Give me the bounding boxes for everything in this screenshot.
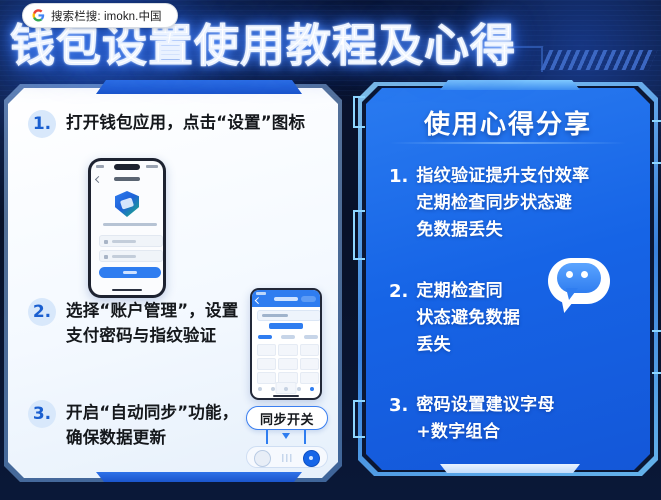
right-panel-top-cap (440, 80, 580, 90)
bracket-accent-3 (353, 400, 365, 438)
chat-bubble-icon (548, 258, 610, 312)
left-panel-top-cap (96, 80, 302, 94)
google-g-icon (32, 9, 45, 22)
step-text-3: 开启“自动同步”功能， 确保数据更新 (66, 400, 238, 450)
toggle-knob-on[interactable] (303, 450, 320, 467)
step-number-3: 3. (28, 400, 56, 428)
right-item-number-3: 3. (389, 392, 408, 419)
right-panel-bottom-cap (440, 464, 580, 473)
right-item-3: 3. 密码设置建议字母 +数字组合 (389, 392, 555, 446)
wallet-shield-logo (115, 191, 139, 217)
bracket-accent-4 (652, 120, 661, 164)
search-bar[interactable]: 搜索栏搜: imokn.中国 (22, 3, 178, 28)
bracket-accent-1 (353, 96, 365, 128)
step-text-1: 打开钱包应用，点击“设置”图标 (66, 110, 305, 135)
phone-tabs (257, 334, 319, 340)
right-item-text-3: 密码设置建议字母 +数字组合 (416, 392, 554, 446)
sync-switch-label-text: 同步开关 (260, 409, 314, 428)
right-item-1: 1. 指纹验证提升支付效率 定期检查同步状态避 免数据丢失 (389, 163, 589, 244)
right-item-number-2: 2. (389, 278, 408, 305)
toggle-knob-off[interactable] (254, 450, 271, 467)
left-step-2: 2. 选择“账户管理”，设置 支付密码与指纹验证 (28, 298, 238, 348)
phone-login-button (99, 267, 161, 278)
right-item-text-1: 指纹验证提升支付效率 定期检查同步状态避 免数据丢失 (416, 163, 589, 244)
step-text-2: 选择“账户管理”，设置 支付密码与指纹验证 (66, 298, 238, 348)
phone-notch (114, 164, 140, 170)
sync-toggle-widget: 同步开关 (246, 406, 342, 468)
bracket-accent-5 (652, 330, 661, 374)
right-panel-divider (390, 142, 626, 144)
sync-connector-lines (246, 430, 328, 446)
left-step-3: 3. 开启“自动同步”功能， 确保数据更新 (28, 400, 238, 450)
phone-bottom-nav (252, 385, 320, 393)
phone-input-password (99, 250, 163, 262)
phone-amount-label (269, 323, 303, 329)
phone-payment-keypad-screen (250, 288, 322, 400)
sync-switch-label: 同步开关 (246, 406, 328, 430)
phone-account-select (257, 310, 320, 321)
down-arrow-icon (282, 433, 290, 439)
bracket-accent-2 (353, 210, 365, 260)
diagonal-hatch-decoration (541, 50, 658, 70)
search-text: 搜索栏搜: imokn.中国 (51, 8, 162, 24)
left-panel-bottom-cap (96, 472, 302, 482)
left-step-1: 1. 打开钱包应用，点击“设置”图标 (28, 110, 305, 138)
phone-input-account (99, 235, 163, 247)
step-number-1: 1. (28, 110, 56, 138)
right-item-text-2: 定期检查同 状态避免数据 丢失 (416, 278, 520, 359)
slide-canvas: 钱包设置使用教程及心得 搜索栏搜: imokn.中国 1. 打开钱包应用，点击“… (0, 0, 661, 500)
back-chevron-icon (95, 176, 102, 183)
right-item-number-1: 1. (389, 163, 408, 190)
phone-numeric-keypad (257, 344, 319, 384)
right-panel-title: 使用心得分享 (366, 104, 650, 141)
back-chevron-icon-2 (255, 297, 261, 303)
phone-wallet-login-screen (88, 158, 166, 298)
step-number-2: 2. (28, 298, 56, 326)
sync-toggle-track[interactable] (246, 446, 328, 468)
right-item-2: 2. 定期检查同 状态避免数据 丢失 (389, 278, 520, 359)
